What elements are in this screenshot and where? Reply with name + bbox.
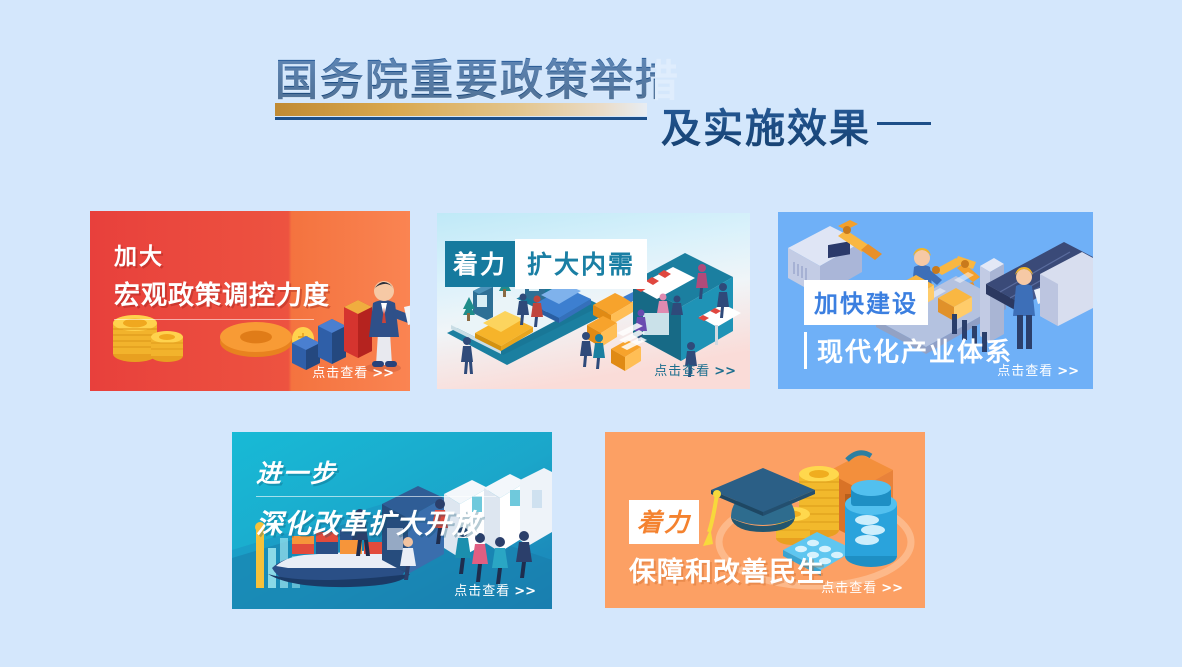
card-1-headline-underline: [114, 319, 314, 320]
page-header: 国务院重要政策举措 及实施效果: [0, 0, 1182, 190]
card-2-cta-chevron-icon: >>: [714, 364, 736, 379]
card-1-headline-line1: 加大: [114, 237, 330, 271]
page-title-line2: 及实施效果: [661, 96, 871, 154]
card-5-cta[interactable]: 点击查看>>: [821, 577, 903, 596]
page-subtitle: 及实施效果: [661, 96, 871, 152]
card-3-headline: 加快建设 现代化产业体系: [804, 280, 1013, 369]
card-1-headline: 加大 宏观政策调控力度: [114, 237, 330, 320]
card-2-headline-box1: 着力: [445, 241, 515, 287]
card-4-cta-chevron-icon: >>: [514, 584, 536, 599]
card-4-headline-line2: 深化改革扩大开放: [256, 502, 496, 541]
policy-card-expand-demand[interactable]: 着力扩大内需 点击查看>>: [437, 213, 750, 389]
card-1-cta-chevron-icon: >>: [372, 366, 394, 381]
card-3-headline-line2-wrap: 现代化产业体系: [804, 332, 1013, 369]
title-gold-accent-bar: [275, 103, 647, 116]
card-3-headline-line1: 加快建设: [804, 280, 928, 325]
card-4-headline-divider: [256, 496, 496, 497]
card-5-headline: 着力 保障和改善民生: [629, 500, 825, 589]
card-5-cta-label: 点击查看: [821, 581, 877, 596]
card-5-cta-chevron-icon: >>: [881, 581, 903, 596]
card-4-headline: 进一步 深化改革扩大开放: [256, 454, 496, 541]
policy-card-modern-industry[interactable]: 加快建设 现代化产业体系 点击查看>>: [778, 212, 1093, 389]
card-5-headline-box1: 着力: [629, 500, 699, 544]
policy-card-reform-opening[interactable]: 进一步 深化改革扩大开放 点击查看>>: [232, 432, 552, 609]
card-3-cta-label: 点击查看: [997, 364, 1053, 379]
page-title-line1: 国务院重要政策举措: [275, 55, 655, 107]
card-3-headline-line2: 现代化产业体系: [817, 332, 1013, 369]
card-4-cta[interactable]: 点击查看>>: [454, 580, 536, 599]
card-2-cta-label: 点击查看: [654, 364, 710, 379]
card-3-cta-chevron-icon: >>: [1057, 364, 1079, 379]
card-2-headline: 着力扩大内需: [445, 239, 647, 289]
policy-card-macro-regulation[interactable]: 加大 宏观政策调控力度 点击查看>>: [90, 211, 410, 391]
card-1-cta-label: 点击查看: [312, 366, 368, 381]
title-rule-left: [275, 117, 647, 120]
card-1-headline-line2: 宏观政策调控力度: [114, 275, 330, 312]
card-1-cta[interactable]: 点击查看>>: [312, 362, 394, 381]
card-4-cta-label: 点击查看: [454, 584, 510, 599]
title-rule-right: [877, 122, 931, 125]
card-4-headline-line1: 进一步: [256, 454, 496, 490]
card-2-cta[interactable]: 点击查看>>: [654, 360, 736, 379]
card-5-headline-line2: 保障和改善民生: [629, 550, 825, 589]
card-3-cta[interactable]: 点击查看>>: [997, 360, 1079, 379]
policy-card-livelihood[interactable]: 着力 保障和改善民生 点击查看>>: [605, 432, 925, 608]
card-2-headline-box2: 扩大内需: [515, 239, 647, 289]
